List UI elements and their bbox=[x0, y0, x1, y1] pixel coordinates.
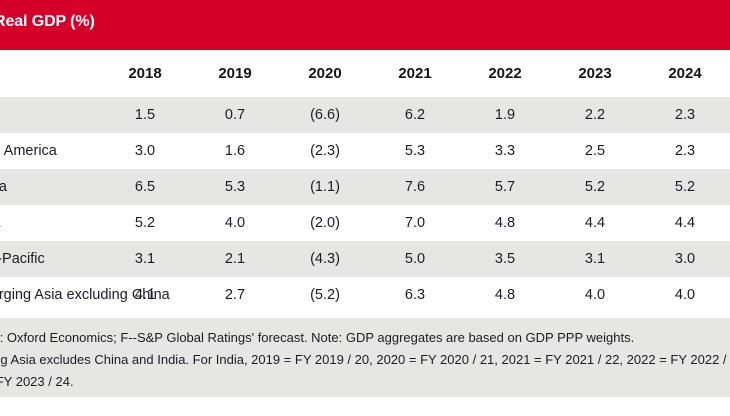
cell-value: (4.3) bbox=[280, 241, 370, 277]
row-label: China bbox=[0, 169, 100, 205]
footnote-line-2: Emerging Asia excludes China and India. … bbox=[0, 349, 730, 371]
cell-value: 5.0 bbox=[370, 241, 460, 277]
cell-value: 3.3 bbox=[460, 133, 550, 169]
cell-value: 2.2 bbox=[550, 97, 640, 133]
cell-value: 4.0 bbox=[190, 205, 280, 241]
column-header-2018: 2018 bbox=[100, 50, 190, 97]
column-header-label bbox=[0, 50, 100, 97]
cell-value: 5.7 bbox=[460, 169, 550, 205]
footnote-text: Sources: Oxford Economics; F--S&P Global… bbox=[0, 327, 730, 393]
cell-value: 3.1 bbox=[550, 241, 640, 277]
figure-title: Real GDP (%) bbox=[0, 13, 95, 31]
footnote-line-3: 2023 = FY 2023 / 24. bbox=[0, 371, 730, 393]
column-header-2020: 2020 bbox=[280, 50, 370, 97]
table-row: Emerging Asia excluding China 4.1 2.7 (5… bbox=[0, 277, 730, 313]
cell-value: 1.5 bbox=[100, 97, 190, 133]
column-header-2021: 2021 bbox=[370, 50, 460, 97]
cell-value: 6.5 bbox=[100, 169, 190, 205]
row-label: U.S. bbox=[0, 97, 100, 133]
cell-value: 3.0 bbox=[100, 133, 190, 169]
cell-value: 4.4 bbox=[550, 205, 640, 241]
figure-title-banner: Real GDP (%) bbox=[0, 0, 730, 50]
table-body: U.S. 1.5 0.7 (6.6) 6.2 1.9 2.2 2.3 Latin… bbox=[0, 97, 730, 313]
footnote-line-1: Sources: Oxford Economics; F--S&P Global… bbox=[0, 327, 730, 349]
table-row: Latin America 3.0 1.6 (2.3) 5.3 3.3 2.5 … bbox=[0, 133, 730, 169]
table-header: 2018 2019 2020 2021 2022 2023 2024 bbox=[0, 50, 730, 97]
table-header-row: 2018 2019 2020 2021 2022 2023 2024 bbox=[0, 50, 730, 97]
cell-value: 5.2 bbox=[550, 169, 640, 205]
row-label: Emerging Asia excluding China bbox=[0, 277, 100, 313]
table-viewport: 2018 2019 2020 2021 2022 2023 2024 U.S. … bbox=[0, 50, 730, 313]
row-label: Latin America bbox=[0, 133, 100, 169]
cell-value: 6.2 bbox=[370, 97, 460, 133]
cell-value: 5.3 bbox=[370, 133, 460, 169]
row-label: India bbox=[0, 205, 100, 241]
column-header-2023: 2023 bbox=[550, 50, 640, 97]
cell-value: 1.9 bbox=[460, 97, 550, 133]
column-header-2022: 2022 bbox=[460, 50, 550, 97]
row-label: Asia-Pacific bbox=[0, 241, 100, 277]
table-row: China 6.5 5.3 (1.1) 7.6 5.7 5.2 5.2 bbox=[0, 169, 730, 205]
cell-value: 4.4 bbox=[640, 205, 730, 241]
table-figure: Real GDP (%) 2018 2019 2020 2021 2022 20… bbox=[0, 0, 730, 416]
column-header-2019: 2019 bbox=[190, 50, 280, 97]
cell-value: (6.6) bbox=[280, 97, 370, 133]
cell-value: 5.3 bbox=[190, 169, 280, 205]
cell-value: (2.0) bbox=[280, 205, 370, 241]
cell-value: (2.3) bbox=[280, 133, 370, 169]
cell-value: 3.1 bbox=[100, 241, 190, 277]
cell-value: 4.8 bbox=[460, 205, 550, 241]
cell-value: 4.8 bbox=[460, 277, 550, 313]
cell-value: 1.6 bbox=[190, 133, 280, 169]
cell-value: 0.7 bbox=[190, 97, 280, 133]
column-header-2024: 2024 bbox=[640, 50, 730, 97]
gdp-table: 2018 2019 2020 2021 2022 2023 2024 U.S. … bbox=[0, 50, 730, 313]
cell-value: 4.0 bbox=[550, 277, 640, 313]
cell-value: 2.3 bbox=[640, 133, 730, 169]
table-row: India 5.2 4.0 (2.0) 7.0 4.8 4.4 4.4 bbox=[0, 205, 730, 241]
cell-value: 7.6 bbox=[370, 169, 460, 205]
cell-value: 3.5 bbox=[460, 241, 550, 277]
table-row: U.S. 1.5 0.7 (6.6) 6.2 1.9 2.2 2.3 bbox=[0, 97, 730, 133]
cell-value: 6.3 bbox=[370, 277, 460, 313]
cell-value: (1.1) bbox=[280, 169, 370, 205]
cell-value: 4.0 bbox=[640, 277, 730, 313]
cell-value: 3.0 bbox=[640, 241, 730, 277]
table-row: Asia-Pacific 3.1 2.1 (4.3) 5.0 3.5 3.1 3… bbox=[0, 241, 730, 277]
cell-value: 2.1 bbox=[190, 241, 280, 277]
cell-value: 5.2 bbox=[100, 205, 190, 241]
cell-value: 2.5 bbox=[550, 133, 640, 169]
bottom-spacer bbox=[0, 397, 730, 416]
footnote-block: Sources: Oxford Economics; F--S&P Global… bbox=[0, 318, 730, 397]
cell-value: 2.3 bbox=[640, 97, 730, 133]
cell-value: 5.2 bbox=[640, 169, 730, 205]
cell-value: 2.7 bbox=[190, 277, 280, 313]
cell-value: (5.2) bbox=[280, 277, 370, 313]
cell-value: 7.0 bbox=[370, 205, 460, 241]
